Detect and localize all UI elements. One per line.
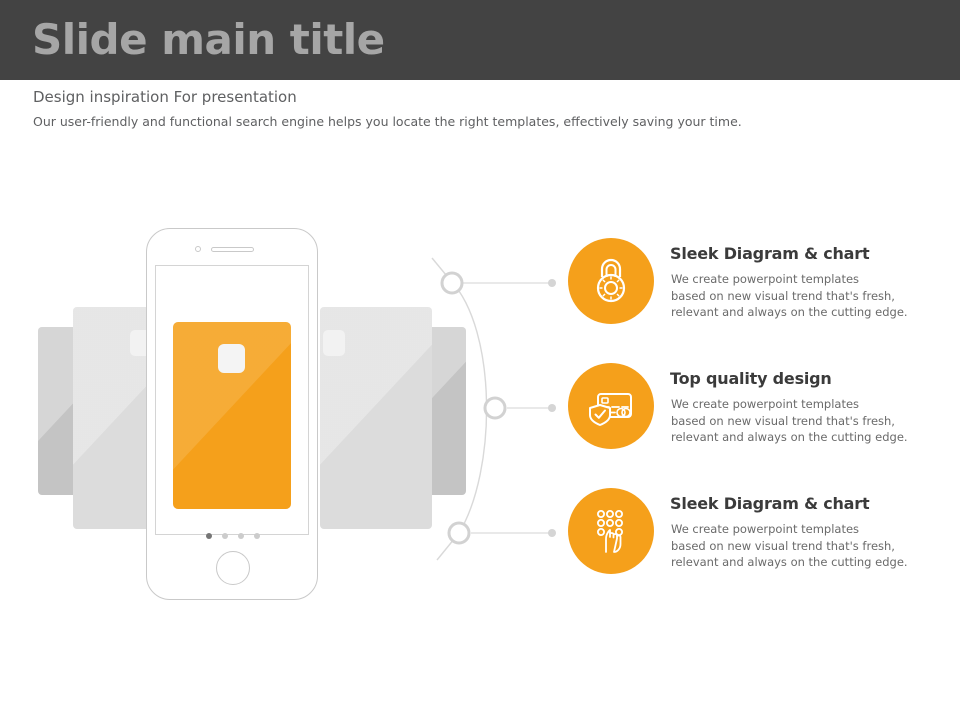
feature-title-2: Top quality design xyxy=(670,369,832,388)
camera-dot-icon xyxy=(195,246,201,252)
feature-description-line: relevant and always on the cutting edge. xyxy=(671,554,908,571)
feature-description-line: based on new visual trend that's fresh, xyxy=(671,413,908,430)
feature-icon-badge-3[interactable] xyxy=(568,488,654,574)
secure-credit-card-icon xyxy=(586,381,636,431)
home-button-icon[interactable] xyxy=(216,551,250,585)
feature-item-2[interactable]: Top quality design We create powerpoint … xyxy=(568,363,960,455)
feature-item-3[interactable]: Sleek Diagram & chart We create powerpoi… xyxy=(568,488,960,580)
feature-icon-badge-2[interactable] xyxy=(568,363,654,449)
card-chip-icon xyxy=(218,344,245,373)
pager-dot[interactable] xyxy=(222,533,228,539)
intro-heading: Design inspiration For presentation xyxy=(33,87,297,107)
feature-description-line: based on new visual trend that's fresh, xyxy=(671,288,908,305)
feature-description-line: based on new visual trend that's fresh, xyxy=(671,538,908,555)
feature-description-line: relevant and always on the cutting edge. xyxy=(671,429,908,446)
page-title: Slide main title xyxy=(32,13,385,67)
feature-description-2: We create powerpoint templates based on … xyxy=(671,396,908,446)
feature-description-3: We create powerpoint templates based on … xyxy=(671,521,908,571)
speaker-slot-icon xyxy=(211,247,254,252)
feature-description-line: We create powerpoint templates xyxy=(671,271,908,288)
carousel-card-active[interactable] xyxy=(173,322,291,509)
feature-title-3: Sleek Diagram & chart xyxy=(670,494,869,513)
feature-description-line: relevant and always on the cutting edge. xyxy=(671,304,908,321)
feature-icon-badge-1[interactable] xyxy=(568,238,654,324)
feature-description-1: We create powerpoint templates based on … xyxy=(671,271,908,321)
intro-description: Our user-friendly and functional search … xyxy=(33,113,742,131)
pager-dot[interactable] xyxy=(238,533,244,539)
slide-canvas: Slide main title Design inspiration For … xyxy=(0,0,960,720)
feature-title-1: Sleek Diagram & chart xyxy=(670,244,869,263)
feature-description-line: We create powerpoint templates xyxy=(671,396,908,413)
pager-dot[interactable] xyxy=(254,533,260,539)
feature-description-line: We create powerpoint templates xyxy=(671,521,908,538)
card-chip-right-icon xyxy=(323,330,345,356)
combination-padlock-icon xyxy=(586,256,636,306)
keypad-touch-icon xyxy=(586,506,636,556)
carousel-pager[interactable] xyxy=(206,533,258,541)
pager-dot[interactable] xyxy=(206,533,212,539)
feature-item-1[interactable]: Sleek Diagram & chart We create powerpoi… xyxy=(568,238,960,330)
